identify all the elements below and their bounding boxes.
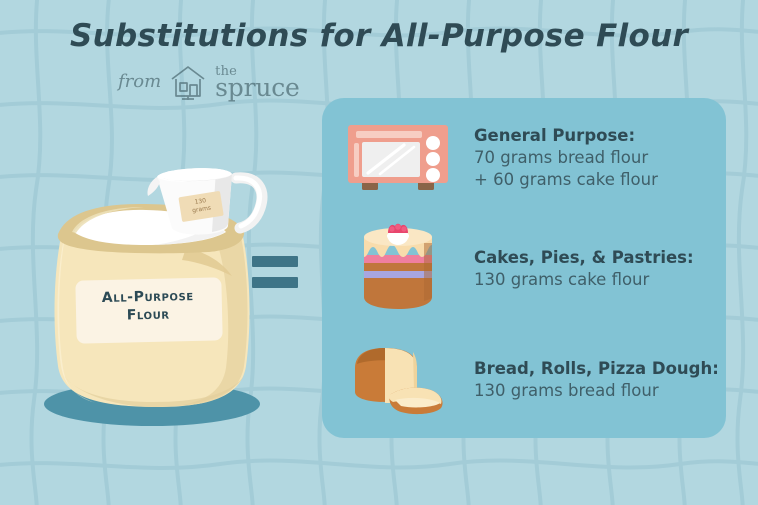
flour-bag-label-line1: All-Purpose xyxy=(83,287,213,308)
substitution-row: Cakes, Pies, & Pastries: 130 grams cake … xyxy=(322,214,726,324)
substitution-detail: 70 grams bread flour xyxy=(474,147,718,169)
layer-cake-icon xyxy=(322,223,474,315)
toaster-oven-icon xyxy=(322,117,474,199)
substitution-detail: 130 grams bread flour xyxy=(474,380,719,402)
flour-bag-label-line2: Flour xyxy=(83,305,213,326)
flour-bag-label: All-Purpose Flour xyxy=(83,287,214,327)
substitution-row-text: General Purpose: 70 grams bread flour + … xyxy=(474,125,726,191)
substitution-row-text: Bread, Rolls, Pizza Dough: 130 grams bre… xyxy=(474,358,727,402)
substitution-detail: 130 grams cake flour xyxy=(474,269,718,291)
substitution-detail: + 60 grams cake flour xyxy=(474,169,718,191)
substitution-row-text: Cakes, Pies, & Pastries: 130 grams cake … xyxy=(474,247,726,291)
equals-sign xyxy=(252,256,298,288)
substitution-row: Bread, Rolls, Pizza Dough: 130 grams bre… xyxy=(322,326,726,434)
bread-loaf-icon xyxy=(322,340,474,420)
substitution-title: Bread, Rolls, Pizza Dough: xyxy=(474,358,719,380)
substitution-title: Cakes, Pies, & Pastries: xyxy=(474,247,718,269)
substitutions-panel: General Purpose: 70 grams bread flour + … xyxy=(322,98,726,438)
substitution-title: General Purpose: xyxy=(474,125,718,147)
substitution-row: General Purpose: 70 grams bread flour + … xyxy=(322,104,726,212)
infographic-canvas: Substitutions for All-Purpose Flour from… xyxy=(0,0,758,505)
